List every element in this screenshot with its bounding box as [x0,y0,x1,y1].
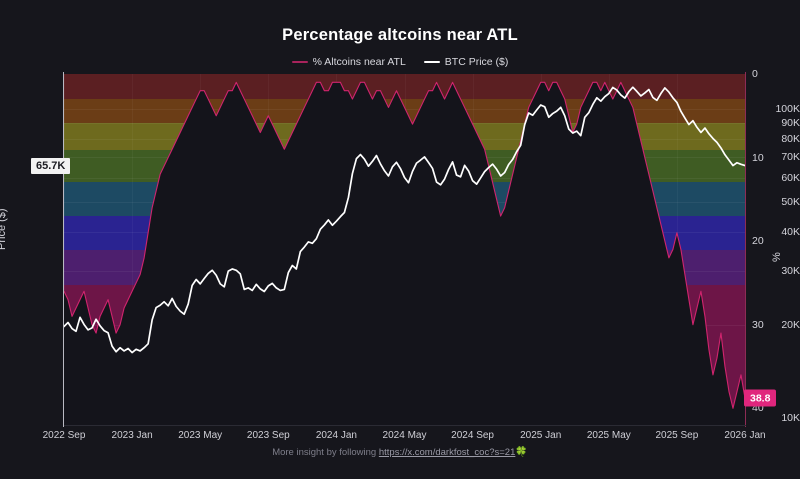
x-tick-2025-jan: 2025 Jan [520,430,561,441]
y-tick-left-100K: 100K [744,103,800,115]
footer-prefix: More insight by following [272,447,379,458]
clover-icon: 🍀 [515,447,527,458]
x-tick-2024-sep: 2024 Sep [451,430,494,441]
x-tick-2024-jan: 2024 Jan [316,430,357,441]
y-axis-right-label: % [771,252,783,262]
plot-area [64,74,745,425]
y-tick-left-50K: 50K [744,196,800,208]
y-tick-left-30K: 30K [744,265,800,277]
x-tick-2023-sep: 2023 Sep [247,430,290,441]
y-axis-left-line [63,72,64,427]
altcoins-area-mask [64,82,745,425]
chart-title: Percentage altcoins near ATL [0,26,800,45]
x-tick-2025-may: 2025 May [587,430,631,441]
chart-container: Percentage altcoins near ATL % Altcoins … [0,0,800,479]
legend-label-altcoins: % Altcoins near ATL [313,56,406,68]
x-tick-2024-may: 2024 May [383,430,427,441]
x-tick-2025-sep: 2025 Sep [655,430,698,441]
y-axis-left-label: Price ($) [0,208,8,250]
footer-link[interactable]: https://x.com/darkfost_coc?s=21 [379,447,516,458]
y-tick-right-20: 20 [752,235,764,247]
legend-item-btc: BTC Price ($) [424,56,509,68]
legend-item-altcoins: % Altcoins near ATL [292,56,406,68]
x-tick-2023-jan: 2023 Jan [112,430,153,441]
y-tick-right-10: 10 [752,152,764,164]
series-layer [64,74,745,425]
footer-note: More insight by following https://x.com/… [0,447,800,458]
y-tick-left-60K: 60K [744,172,800,184]
legend-label-btc: BTC Price ($) [445,56,509,68]
x-tick-2023-may: 2023 May [178,430,222,441]
current-percentage-badge: 38.8 [744,390,776,407]
current-price-badge: 65.7K [31,158,70,174]
legend-swatch-btc [424,61,440,64]
x-axis-line [64,425,746,426]
chart-legend: % Altcoins near ATL BTC Price ($) [0,56,800,68]
y-tick-right-30: 30 [752,319,764,331]
x-tick-2026-jan: 2026 Jan [724,430,765,441]
x-tick-2022-sep: 2022 Sep [43,430,86,441]
legend-swatch-altcoins [292,61,308,64]
y-tick-left-90K: 90K [744,117,800,129]
y-tick-right-0: 0 [752,68,758,80]
y-tick-left-80K: 80K [744,133,800,145]
